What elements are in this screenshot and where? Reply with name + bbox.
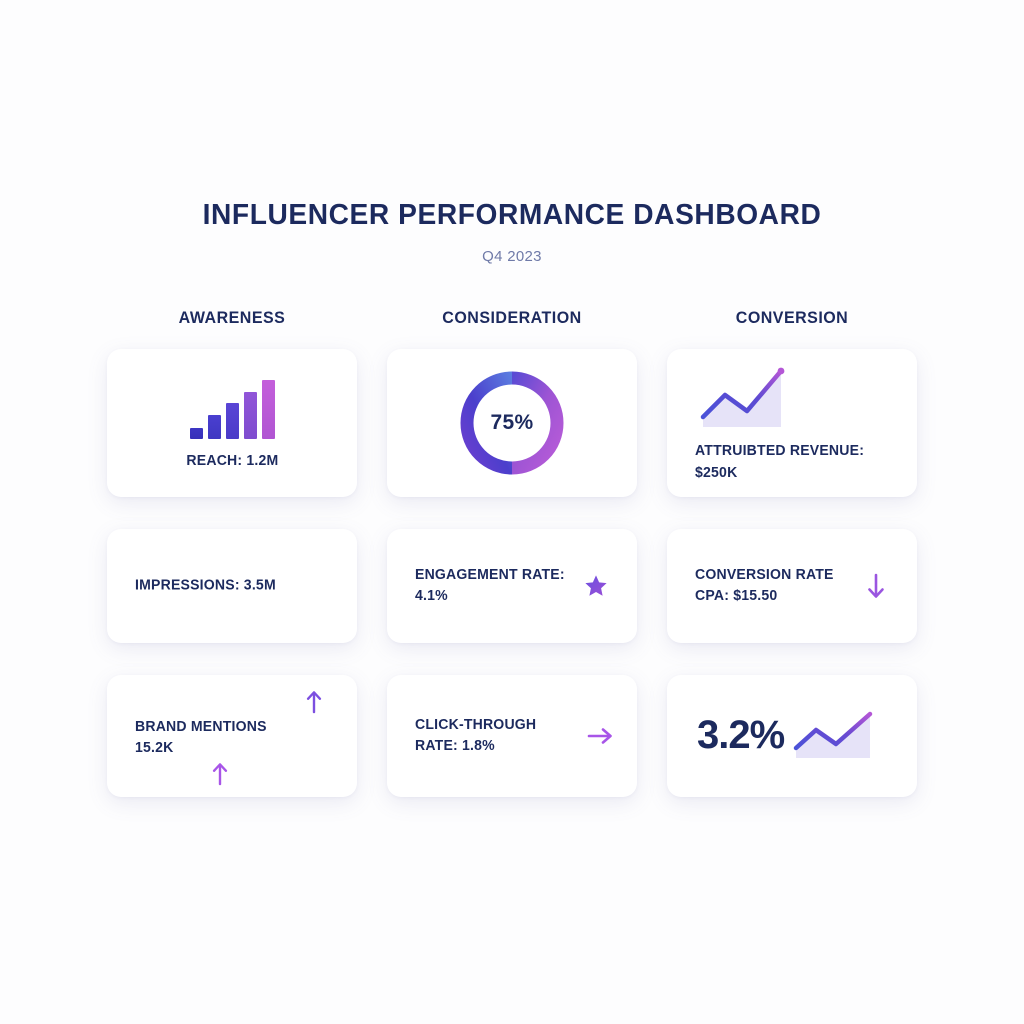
metric-label-engagement-rate: ENGAGEMENT RATE: 4.1% [415,565,576,607]
arrow-right-icon [585,724,615,748]
line-chart-icon [790,708,880,764]
metric-label-conversion-rate: CONVERSION RATE CPA: $15.50 [695,565,856,607]
metric-value-conversion-pct: 3.2% [697,713,784,758]
metric-card-reach[interactable]: REACH: 1.2M [107,349,357,497]
arrow-up-icon [303,687,325,717]
line-chart-icon [697,365,789,433]
metric-label-attributed-revenue: ATTRUIBTED REVENUE: $250K [695,441,887,485]
dashboard-header: INFLUENCER PERFORMANCE DASHBOARD Q4 2023 [0,0,1024,265]
metric-card-consideration-gauge[interactable]: 75% [387,349,637,497]
bar-chart-icon [190,377,275,439]
metric-card-engagement-rate[interactable]: ENGAGEMENT RATE: 4.1% [387,529,637,643]
arrow-up-icon [209,759,231,789]
dashboard-page: INFLUENCER PERFORMANCE DASHBOARD Q4 2023… [0,0,1024,1024]
page-title: INFLUENCER PERFORMANCE DASHBOARD [15,200,1008,232]
metric-label-click-through-rate: CLICK-THROUGH RATE: 1.8% [415,715,572,757]
arrow-down-icon [863,571,889,601]
metric-card-click-through-rate[interactable]: CLICK-THROUGH RATE: 1.8% [387,675,637,797]
metric-card-attributed-revenue[interactable]: ATTRUIBTED REVENUE: $250K [667,349,917,497]
funnel-stage-headers: AWARENESS CONSIDERATION CONVERSION [107,309,917,328]
metric-label-brand-mentions: BRAND MENTIONS 15.2K [135,717,296,759]
metric-label-impressions: IMPRESSIONS: 3.5M [135,575,296,596]
metric-label-reach: REACH: 1.2M [186,453,278,469]
metric-card-impressions[interactable]: IMPRESSIONS: 3.5M [107,529,357,643]
metric-card-brand-mentions[interactable]: BRAND MENTIONS 15.2K [107,675,357,797]
star-icon [583,571,609,601]
donut-gauge-icon: 75% [460,371,564,475]
metric-card-grid: REACH: 1.2M [107,349,917,797]
metric-card-conversion-rate[interactable]: CONVERSION RATE CPA: $15.50 [667,529,917,643]
page-subtitle: Q4 2023 [0,248,1024,265]
gauge-value-label: 75% [460,371,564,475]
column-header-awareness: AWARENESS [111,309,354,328]
metric-card-conversion-pct[interactable]: 3.2% [667,675,917,797]
column-header-conversion: CONVERSION [671,309,914,328]
column-header-consideration: CONSIDERATION [391,309,634,328]
